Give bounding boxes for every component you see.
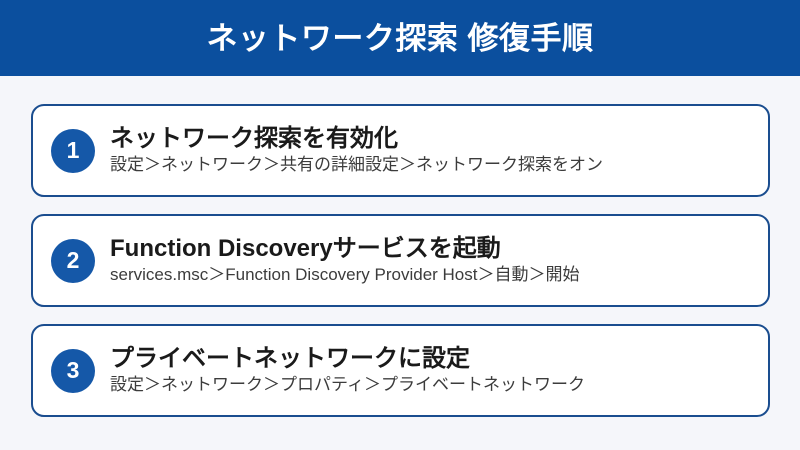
step-number-badge: 1	[51, 129, 95, 173]
step-card[interactable]: 2 Function Discoveryサービスを起動 services.msc…	[31, 214, 770, 307]
page-header: ネットワーク探索 修復手順	[0, 0, 800, 76]
step-text-group: プライベートネットワークに設定 設定＞ネットワーク＞プロパティ＞プライベートネッ…	[110, 345, 585, 396]
step-number-badge: 3	[51, 349, 95, 393]
step-title: プライベートネットワークに設定	[110, 345, 585, 373]
step-subtitle: 設定＞ネットワーク＞共有の詳細設定＞ネットワーク探索をオン	[110, 155, 603, 175]
step-title: Function Discoveryサービスを起動	[110, 235, 579, 263]
step-text-group: Function Discoveryサービスを起動 services.msc＞F…	[110, 235, 579, 286]
steps-list: 1 ネットワーク探索を有効化 設定＞ネットワーク＞共有の詳細設定＞ネットワーク探…	[31, 104, 770, 417]
step-subtitle: services.msc＞Function Discovery Provider…	[110, 265, 579, 285]
step-card[interactable]: 3 プライベートネットワークに設定 設定＞ネットワーク＞プロパティ＞プライベート…	[31, 324, 770, 417]
infographic-page: { "header": { "title": "ネットワーク探索 修復手順", …	[0, 0, 800, 450]
page-title: ネットワーク探索 修復手順	[206, 23, 593, 54]
step-subtitle: 設定＞ネットワーク＞プロパティ＞プライベートネットワーク	[110, 375, 585, 395]
step-number-badge: 2	[51, 239, 95, 283]
step-title: ネットワーク探索を有効化	[110, 125, 603, 153]
step-card[interactable]: 1 ネットワーク探索を有効化 設定＞ネットワーク＞共有の詳細設定＞ネットワーク探…	[31, 104, 770, 197]
step-text-group: ネットワーク探索を有効化 設定＞ネットワーク＞共有の詳細設定＞ネットワーク探索を…	[110, 125, 603, 176]
